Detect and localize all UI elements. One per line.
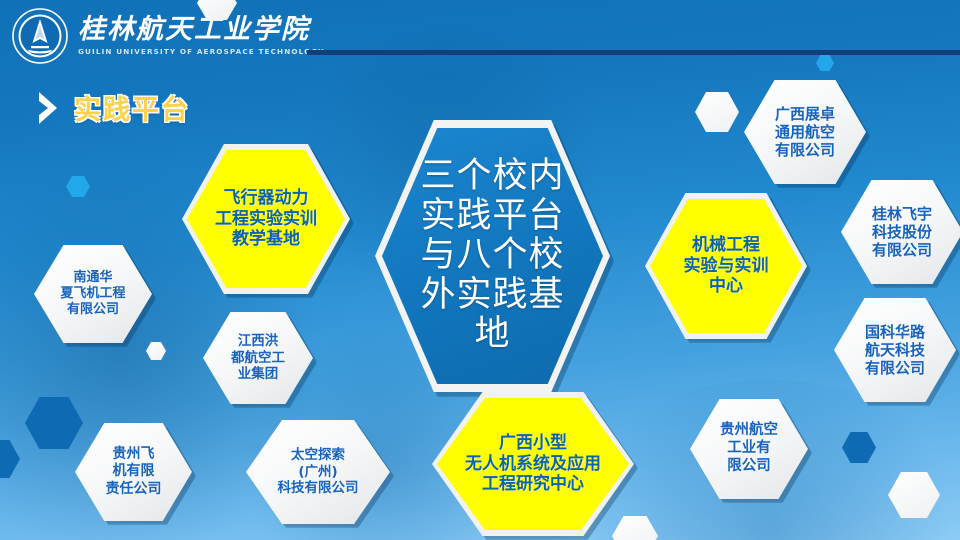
platform-hexagon-mechanical-engineering[interactable]: 机械工程 实验与实训 中心 (645, 193, 807, 339)
partner-hexagon-nantong-huaxia[interactable]: 南通华 夏飞机工程 有限公司 (34, 245, 152, 343)
decorative-hexagon-small (66, 176, 90, 197)
brand-name-en: GUILIN UNIVERSITY OF AEROSPACE TECHNOLOG… (78, 48, 325, 55)
partner-hexagon-guangxi-zhanzhuo[interactable]: 广西展卓 通用航空 有限公司 (744, 80, 866, 184)
center-hexagon[interactable]: 三个校内 实践平台 与八个校 外实践基 地 (375, 120, 610, 392)
partner-label: 江西洪 都航空工 业集团 (225, 333, 291, 382)
platform-label: 广西小型 无人机系统及应用 工程研究中心 (459, 433, 607, 495)
slide: 桂林航天工业学院 GUILIN UNIVERSITY OF AEROSPACE … (0, 0, 960, 540)
partner-label: 桂林飞宇 科技股份 有限公司 (866, 205, 938, 260)
decorative-hexagon-small (146, 342, 166, 360)
partner-hexagon-space-exploration-gz[interactable]: 太空探索 (广州) 科技有限公司 (246, 420, 390, 524)
partner-hexagon-guoke-hualu[interactable]: 国科华路 航天科技 有限公司 (834, 298, 956, 402)
section-header: 实践平台 (36, 88, 190, 127)
platform-hexagon-aircraft-power[interactable]: 飞行器动力 工程实验实训 教学基地 (182, 144, 350, 294)
page-title: 实践平台 (74, 88, 190, 127)
header-divider (307, 50, 960, 55)
partner-label: 贵州航空 工业有 限公司 (714, 422, 784, 475)
partner-label: 国科华路 航天科技 有限公司 (859, 323, 931, 378)
decorative-hexagon (888, 472, 940, 518)
decorative-hexagon (0, 440, 20, 478)
brand-name-cn: 桂林航天工业学院 (78, 16, 325, 43)
platform-label: 飞行器动力 工程实验实训 教学基地 (209, 188, 323, 250)
partner-label: 贵州飞 机有限 责任公司 (100, 446, 168, 497)
platform-hexagon-uav-research-center[interactable]: 广西小型 无人机系统及应用 工程研究中心 (432, 392, 634, 536)
center-hexagon-label: 三个校内 实践平台 与八个校 外实践基 地 (414, 157, 570, 355)
platform-label: 机械工程 实验与实训 中心 (678, 235, 775, 297)
partner-label: 太空探索 (广州) 科技有限公司 (272, 447, 365, 496)
partner-hexagon-guizhou-aircraft[interactable]: 贵州飞 机有限 责任公司 (75, 423, 192, 521)
chevron-right-icon (36, 90, 60, 126)
partner-hexagon-guizhou-aviation[interactable]: 贵州航空 工业有 限公司 (690, 399, 808, 499)
brand-logo: 桂林航天工业学院 GUILIN UNIVERSITY OF AEROSPACE … (10, 6, 325, 66)
partner-label: 南通华 夏飞机工程 有限公司 (54, 270, 131, 318)
decorative-hexagon (25, 397, 83, 449)
decorative-hexagon (695, 92, 739, 132)
university-seal-rocket-icon (10, 6, 70, 66)
partner-hexagon-guilin-feiyu[interactable]: 桂林飞宇 科技股份 有限公司 (841, 180, 960, 284)
decorative-hexagon (842, 432, 876, 463)
decorative-hexagon (612, 516, 658, 540)
partner-hexagon-jiangxi-hongdu[interactable]: 江西洪 都航空工 业集团 (203, 312, 313, 404)
decorative-hexagon-small (816, 55, 834, 71)
partner-label: 广西展卓 通用航空 有限公司 (769, 105, 841, 160)
